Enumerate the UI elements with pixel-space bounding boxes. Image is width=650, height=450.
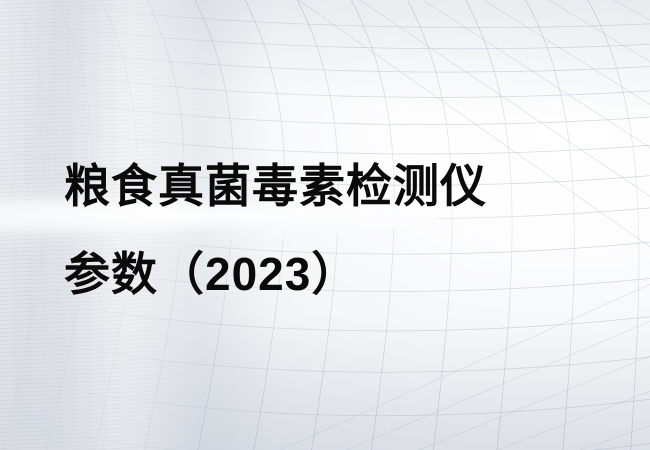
page-title: 粮食真菌毒素检测仪 参数（2023）: [64, 142, 624, 318]
title-banner: 粮食真菌毒素检测仪 参数（2023）: [0, 0, 650, 450]
title-line-secondary: 参数（2023）: [64, 230, 624, 318]
title-line-primary: 粮食真菌毒素检测仪: [64, 142, 624, 230]
